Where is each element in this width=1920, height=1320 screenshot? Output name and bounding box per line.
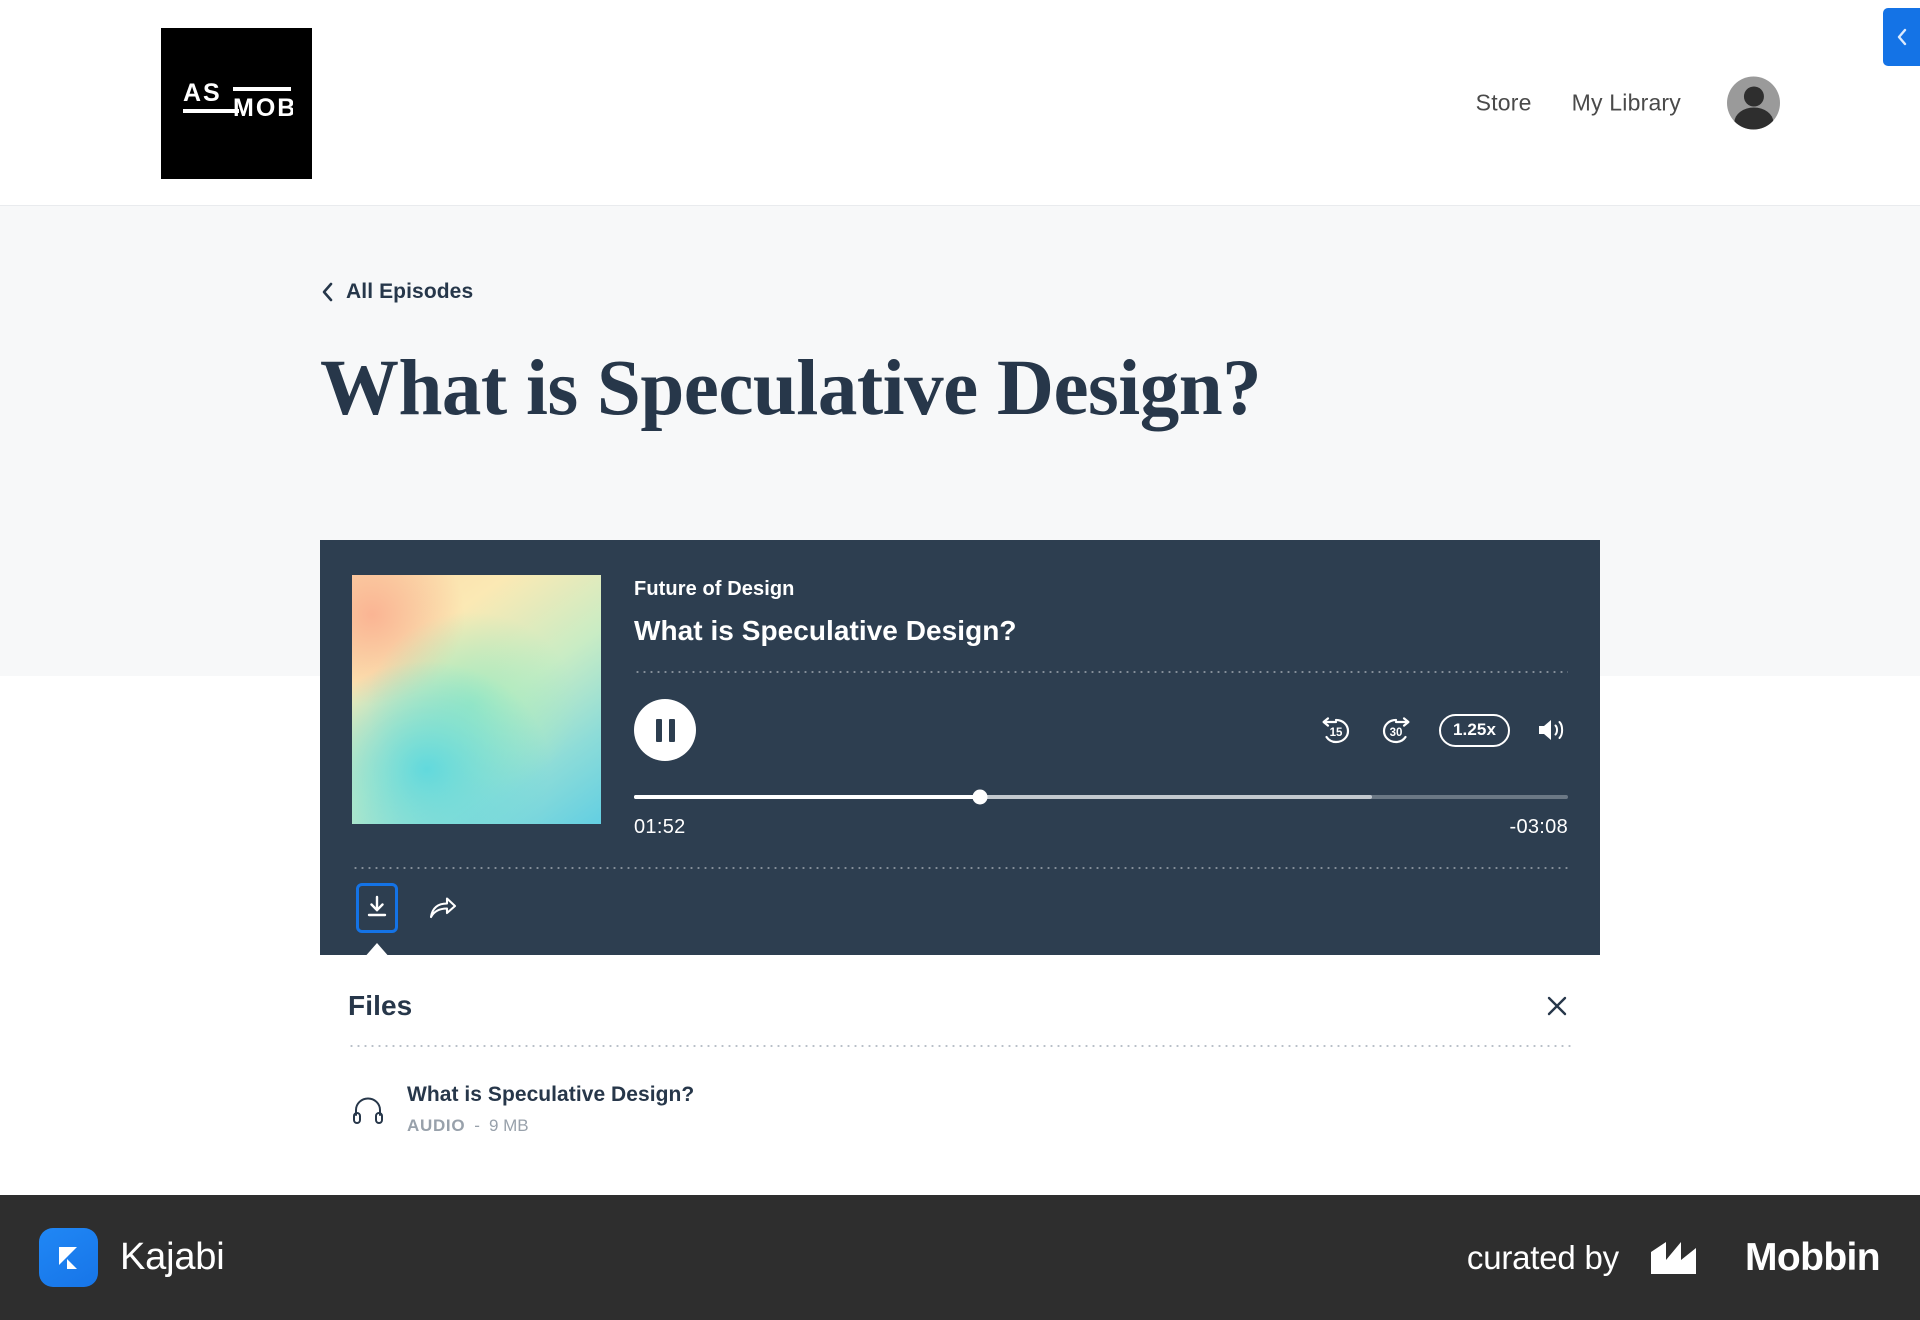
side-panel-toggle[interactable] bbox=[1883, 8, 1920, 66]
episode-artwork bbox=[352, 575, 601, 824]
curated-by-group: curated by Mobbin bbox=[1467, 1236, 1880, 1280]
main-content: All Episodes What is Speculative Design?… bbox=[0, 206, 1920, 1136]
show-name: Future of Design bbox=[634, 578, 1568, 601]
progress-bar[interactable] bbox=[634, 794, 1568, 800]
svg-text:MOB: MOB bbox=[233, 94, 293, 122]
nav-link-store[interactable]: Store bbox=[1462, 81, 1546, 124]
share-button[interactable] bbox=[424, 885, 462, 931]
kajabi-label: Kajabi bbox=[120, 1236, 224, 1279]
forward-30-icon: 30 bbox=[1379, 713, 1413, 747]
player-controls-row: 15 15 30 bbox=[634, 699, 1568, 761]
svg-text:30: 30 bbox=[1390, 727, 1403, 739]
files-header: Files bbox=[320, 989, 1600, 1023]
file-size: 9 MB bbox=[489, 1116, 529, 1136]
share-icon bbox=[429, 895, 457, 921]
volume-up-icon bbox=[1536, 715, 1568, 745]
breadcrumb-label: All Episodes bbox=[346, 280, 473, 304]
chevron-left-icon bbox=[1894, 26, 1910, 48]
footer: Kajabi curated by Mobbin bbox=[0, 1195, 1920, 1320]
file-meta-separator: - bbox=[474, 1116, 480, 1136]
svg-text:AS: AS bbox=[183, 79, 222, 107]
time-labels: 01:52 -03:08 bbox=[634, 816, 1568, 839]
avatar-head bbox=[1743, 86, 1763, 106]
file-type: AUDIO bbox=[407, 1116, 465, 1136]
play-pause-button[interactable] bbox=[634, 699, 696, 761]
player-divider-top bbox=[634, 671, 1568, 673]
playback-speed-button[interactable]: 1.25x bbox=[1439, 714, 1510, 747]
curated-by-label: curated by bbox=[1467, 1239, 1619, 1277]
download-button[interactable] bbox=[356, 883, 398, 933]
page-root: AS MOB Store My Library bbox=[0, 0, 1920, 1320]
player-action-row bbox=[320, 869, 1600, 955]
file-details: What is Speculative Design? AUDIO - 9 MB bbox=[407, 1083, 694, 1136]
secondary-controls-group: 15 15 30 bbox=[1319, 713, 1568, 747]
mobbin-logo-icon bbox=[1649, 1238, 1723, 1278]
progress-scrubber-handle[interactable] bbox=[972, 790, 987, 805]
pause-icon-bar-left bbox=[656, 719, 662, 742]
forward-30-button[interactable]: 30 30 bbox=[1379, 713, 1413, 747]
download-popover-caret bbox=[363, 943, 391, 959]
kajabi-k-icon bbox=[52, 1241, 86, 1275]
rewind-15-icon: 15 bbox=[1319, 713, 1353, 747]
mobbin-branding[interactable]: Mobbin bbox=[1649, 1236, 1880, 1280]
brand-logo[interactable]: AS MOB bbox=[161, 28, 312, 179]
download-icon bbox=[366, 895, 388, 921]
volume-button[interactable] bbox=[1536, 715, 1568, 745]
kajabi-logo-icon bbox=[39, 1228, 98, 1287]
avatar[interactable] bbox=[1727, 76, 1780, 129]
rewind-15-button[interactable]: 15 15 bbox=[1319, 713, 1353, 747]
remaining-time-label: -03:08 bbox=[1509, 816, 1568, 839]
asmob-logo-icon: AS MOB bbox=[181, 74, 293, 134]
pause-icon-bar-right bbox=[669, 719, 675, 742]
episode-name: What is Speculative Design? bbox=[634, 615, 1568, 647]
kajabi-branding[interactable]: Kajabi bbox=[39, 1228, 224, 1287]
mobbin-label: Mobbin bbox=[1745, 1236, 1880, 1280]
avatar-body bbox=[1734, 108, 1773, 129]
close-files-button[interactable] bbox=[1540, 989, 1574, 1023]
nav-links-group: Store My Library bbox=[1462, 76, 1780, 129]
nav-link-my-library[interactable]: My Library bbox=[1558, 81, 1695, 124]
content-container: All Episodes What is Speculative Design?… bbox=[320, 206, 1600, 1136]
headphones-icon bbox=[350, 1092, 386, 1128]
current-time-label: 01:52 bbox=[634, 816, 686, 839]
progress-track-played bbox=[634, 795, 980, 799]
player-details: Future of Design What is Speculative Des… bbox=[634, 575, 1568, 839]
files-panel: Files What is Speculativ bbox=[320, 955, 1600, 1136]
file-meta: AUDIO - 9 MB bbox=[407, 1116, 694, 1136]
top-navigation-bar: AS MOB Store My Library bbox=[0, 0, 1920, 206]
svg-text:15: 15 bbox=[1330, 727, 1343, 739]
chevron-left-icon bbox=[321, 281, 335, 303]
file-name: What is Speculative Design? bbox=[407, 1083, 694, 1107]
files-title: Files bbox=[348, 990, 412, 1022]
close-icon bbox=[1544, 993, 1570, 1019]
player-top-section: Future of Design What is Speculative Des… bbox=[320, 540, 1600, 839]
list-item[interactable]: What is Speculative Design? AUDIO - 9 MB bbox=[320, 1047, 1600, 1136]
breadcrumb-all-episodes[interactable]: All Episodes bbox=[321, 206, 473, 304]
audio-player-card: Future of Design What is Speculative Des… bbox=[320, 540, 1600, 955]
page-title: What is Speculative Design? bbox=[320, 349, 1600, 428]
